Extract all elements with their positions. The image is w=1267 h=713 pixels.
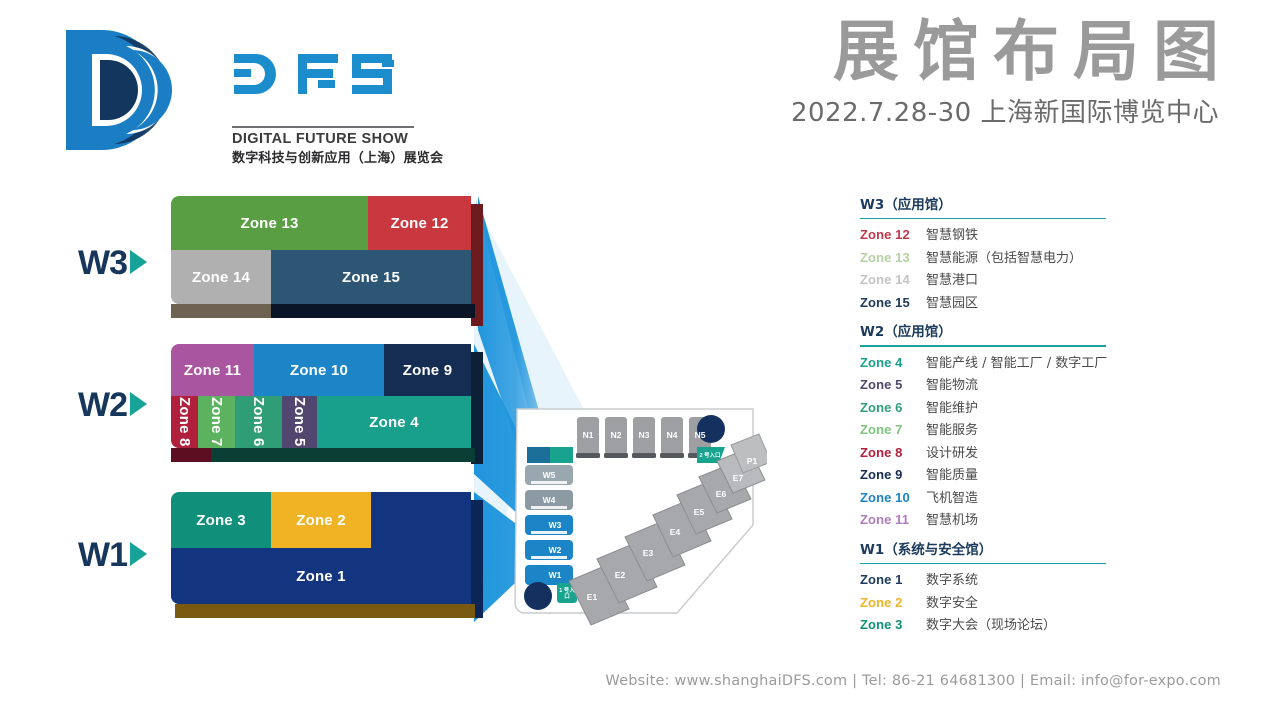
legend-divider bbox=[860, 345, 1106, 346]
zone-block-label: Zone 6 bbox=[251, 397, 266, 447]
legend-zone-name: Zone 11 bbox=[860, 509, 926, 531]
mini-hall-label-w2: W2 bbox=[531, 544, 579, 556]
legend-zone-name: Zone 15 bbox=[860, 292, 926, 314]
dfs-wordmark-icon bbox=[232, 50, 422, 98]
triangle-right-icon-w1 bbox=[130, 542, 147, 566]
mini-hall-label-e6: E6 bbox=[710, 488, 732, 500]
legend-row[interactable]: Zone 10 飞机智造 bbox=[860, 487, 1190, 510]
zone-block-label: Zone 12 bbox=[390, 216, 448, 231]
legend-group-w2: W2（应用馆） Zone 4 智能产线 / 智能工厂 / 数字工厂 Zone 5… bbox=[860, 323, 1190, 531]
legend-row[interactable]: Zone 13 智慧能源（包括智慧电力） bbox=[860, 247, 1190, 270]
legend-zone-desc: 智能服务 bbox=[926, 420, 978, 442]
entrance-gate-icon-1[interactable] bbox=[524, 582, 552, 610]
legend-zone-desc: 数字安全 bbox=[926, 593, 978, 615]
legend-row[interactable]: Zone 9 智能质量 bbox=[860, 464, 1190, 487]
legend-zone-name: Zone 9 bbox=[860, 464, 926, 486]
legend-row[interactable]: Zone 8 设计研发 bbox=[860, 442, 1190, 465]
legend-zone-name: Zone 2 bbox=[860, 592, 926, 614]
zone-block-zone-14[interactable]: Zone 14 bbox=[171, 250, 271, 304]
zone-block-zone-12[interactable]: Zone 12 bbox=[368, 196, 471, 250]
mini-gate-tag-top bbox=[550, 447, 573, 463]
zone-block-label: Zone 1 bbox=[296, 569, 346, 584]
legend-group-w3: W3（应用馆） Zone 12 智慧钢铁 Zone 13 智慧能源（包括智慧电力… bbox=[860, 196, 1190, 314]
mini-hall-label-e5: E5 bbox=[688, 506, 710, 518]
zone-block-zone-1-extension[interactable] bbox=[371, 492, 471, 548]
legend-zone-desc: 智能质量 bbox=[926, 465, 978, 487]
legend-row[interactable]: Zone 1 数字系统 bbox=[860, 569, 1190, 592]
page-title: 展馆布局图 bbox=[791, 14, 1233, 90]
hall-block-w1: Zone 3 Zone 2 Zone 1 bbox=[163, 492, 483, 622]
zone-block-label: Zone 13 bbox=[240, 216, 298, 231]
legend-zone-name: Zone 13 bbox=[860, 247, 926, 269]
mini-hall-label-p1: P1 bbox=[741, 455, 763, 467]
mini-hall-label-n2: N2 bbox=[605, 429, 627, 441]
mini-hall-label-e2: E2 bbox=[609, 569, 631, 581]
block-shadow-w2-bottom bbox=[175, 448, 475, 462]
brand-logo: DIGITAL FUTURE SHOW 数字科技与创新应用（上海）展览会 bbox=[62, 22, 382, 162]
zone-block-zone-13[interactable]: Zone 13 bbox=[171, 196, 368, 250]
zone-block-zone-6[interactable]: Zone 6 bbox=[235, 396, 282, 448]
legend-row[interactable]: Zone 6 智能维护 bbox=[860, 397, 1190, 420]
title-block: 展馆布局图 2022.7.28-30 上海新国际博览中心 bbox=[791, 14, 1219, 130]
mini-hall-label-n3: N3 bbox=[633, 429, 655, 441]
mini-hall-label-e1: E1 bbox=[581, 591, 603, 603]
page-subtitle: 2022.7.28-30 上海新国际博览中心 bbox=[791, 96, 1219, 130]
zone-block-zone-9[interactable]: Zone 9 bbox=[384, 344, 471, 396]
legend-row[interactable]: Zone 12 智慧钢铁 bbox=[860, 224, 1190, 247]
hall-block-w2: Zone 11 Zone 10 Zone 9 Zone 8 Zone 7 Zon… bbox=[163, 344, 483, 474]
legend-zone-name: Zone 5 bbox=[860, 374, 926, 396]
legend-row[interactable]: Zone 7 智能服务 bbox=[860, 419, 1190, 442]
zone-block-zone-15[interactable]: Zone 15 bbox=[271, 250, 471, 304]
zone-block-label: Zone 11 bbox=[184, 363, 241, 378]
mini-hall-label-n4: N4 bbox=[661, 429, 683, 441]
legend-zone-desc: 智慧钢铁 bbox=[926, 225, 978, 247]
triangle-right-icon-w3 bbox=[130, 250, 147, 274]
legend-zone-name: Zone 3 bbox=[860, 614, 926, 636]
legend-row[interactable]: Zone 3 数字大会（现场论坛） bbox=[860, 614, 1190, 637]
mini-hall-label-n1: N1 bbox=[577, 429, 599, 441]
zone-block-zone-10[interactable]: Zone 10 bbox=[254, 344, 384, 396]
mini-gate-label-2: 2 号入口 bbox=[699, 449, 721, 463]
mini-hall-label-n5: N5 bbox=[689, 429, 711, 441]
zone-block-zone-8[interactable]: Zone 8 bbox=[171, 396, 198, 448]
legend-divider bbox=[860, 218, 1106, 219]
legend-group-w1: W1（系统与安全馆） Zone 1 数字系统 Zone 2 数字安全 Zone … bbox=[860, 541, 1190, 637]
zone-block-zone-2[interactable]: Zone 2 bbox=[271, 492, 371, 548]
zone-block-label: Zone 4 bbox=[369, 415, 419, 430]
legend-zone-desc: 智能物流 bbox=[926, 375, 978, 397]
zone-block-label: Zone 15 bbox=[342, 270, 400, 285]
legend-zone-desc: 智慧园区 bbox=[926, 293, 978, 315]
logo-english-name: DIGITAL FUTURE SHOW bbox=[232, 130, 432, 148]
legend-zone-name: Zone 1 bbox=[860, 569, 926, 591]
zone-block-label: Zone 14 bbox=[192, 270, 250, 285]
legend-row[interactable]: Zone 14 智慧港口 bbox=[860, 269, 1190, 292]
contact-footer: Website: www.shanghaiDFS.com | Tel: 86-2… bbox=[0, 671, 1221, 691]
legend-row[interactable]: Zone 4 智能产线 / 智能工厂 / 数字工厂 bbox=[860, 352, 1190, 375]
legend-zone-name: Zone 12 bbox=[860, 224, 926, 246]
legend-row[interactable]: Zone 15 智慧园区 bbox=[860, 292, 1190, 315]
zone-block-zone-5[interactable]: Zone 5 bbox=[282, 396, 317, 448]
zone-block-zone-3[interactable]: Zone 3 bbox=[171, 492, 271, 548]
legend-zone-name: Zone 4 bbox=[860, 352, 926, 374]
triangle-right-icon-w2 bbox=[130, 392, 147, 416]
block-shadow-w2-bottomleft bbox=[171, 448, 211, 462]
legend-zone-desc: 智慧机场 bbox=[926, 510, 978, 532]
legend-zone-desc: 智慧港口 bbox=[926, 270, 978, 292]
legend-group-title: W2（应用馆） bbox=[860, 323, 1190, 345]
mini-hall-label-w1: W1 bbox=[531, 569, 579, 581]
hall-label-w2: W2 bbox=[78, 388, 127, 422]
block-shadow-w3-bottomleft bbox=[171, 304, 271, 318]
legend-group-title: W3（应用馆） bbox=[860, 196, 1190, 218]
zone-block-zone-4[interactable]: Zone 4 bbox=[317, 396, 471, 448]
legend-zone-name: Zone 6 bbox=[860, 397, 926, 419]
legend-row[interactable]: Zone 11 智慧机场 bbox=[860, 509, 1190, 532]
block-shadow-w1-bottom bbox=[175, 604, 475, 618]
logo-divider bbox=[232, 126, 414, 128]
zone-block-label: Zone 8 bbox=[177, 397, 192, 447]
zone-block-label: Zone 7 bbox=[209, 397, 224, 447]
zone-block-zone-7[interactable]: Zone 7 bbox=[198, 396, 235, 448]
legend-row[interactable]: Zone 5 智能物流 bbox=[860, 374, 1190, 397]
dfs-circle-logo-icon bbox=[62, 24, 182, 156]
mini-hall-label-w4: W4 bbox=[525, 494, 573, 506]
legend-zone-desc: 设计研发 bbox=[926, 443, 978, 465]
zone-block-label: Zone 5 bbox=[292, 397, 307, 447]
legend-group-title: W1（系统与安全馆） bbox=[860, 541, 1190, 563]
legend-zone-desc: 智能产线 / 智能工厂 / 数字工厂 bbox=[926, 353, 1107, 375]
legend-zone-name: Zone 14 bbox=[860, 269, 926, 291]
hall-block-w3: Zone 13 Zone 12 Zone 14 Zone 15 bbox=[163, 196, 483, 326]
legend-zone-name: Zone 8 bbox=[860, 442, 926, 464]
mini-hall-label-w3: W3 bbox=[531, 519, 579, 531]
mini-hall-label-e7: E7 bbox=[727, 472, 749, 484]
legend-zone-desc: 数字大会（现场论坛） bbox=[926, 615, 1056, 637]
zone-block-label: Zone 3 bbox=[196, 513, 246, 528]
mini-hall-label-e3: E3 bbox=[637, 547, 659, 559]
mini-hall-label-e4: E4 bbox=[664, 526, 686, 538]
legend-zone-name: Zone 7 bbox=[860, 419, 926, 441]
venue-overview-map[interactable]: N1 N2 N3 N4 N5 W5 W4 W3 W2 W1 E1 E2 E3 E… bbox=[505, 393, 767, 631]
zone-legend: W3（应用馆） Zone 12 智慧钢铁 Zone 13 智慧能源（包括智慧电力… bbox=[860, 196, 1190, 646]
legend-row[interactable]: Zone 2 数字安全 bbox=[860, 592, 1190, 615]
legend-zone-desc: 智能维护 bbox=[926, 398, 978, 420]
legend-divider bbox=[860, 563, 1106, 564]
legend-zone-desc: 飞机智造 bbox=[926, 488, 978, 510]
zone-block-zone-1[interactable]: Zone 1 bbox=[171, 548, 471, 604]
zone-block-zone-11[interactable]: Zone 11 bbox=[171, 344, 254, 396]
zone-block-label: Zone 10 bbox=[290, 363, 348, 378]
zone-block-label: Zone 9 bbox=[403, 363, 453, 378]
zone-block-label: Zone 2 bbox=[296, 513, 346, 528]
block-shadow-w1-right bbox=[471, 500, 483, 618]
mini-hall-label-w5: W5 bbox=[525, 469, 573, 481]
mini-gate-label-1: 1 号入口 bbox=[557, 587, 577, 601]
hall-label-w3: W3 bbox=[78, 246, 127, 280]
legend-zone-desc: 智慧能源（包括智慧电力） bbox=[926, 248, 1082, 270]
legend-zone-name: Zone 10 bbox=[860, 487, 926, 509]
legend-zone-desc: 数字系统 bbox=[926, 570, 978, 592]
logo-chinese-name: 数字科技与创新应用（上海）展览会 bbox=[232, 150, 452, 167]
hall-label-w1: W1 bbox=[78, 538, 127, 572]
